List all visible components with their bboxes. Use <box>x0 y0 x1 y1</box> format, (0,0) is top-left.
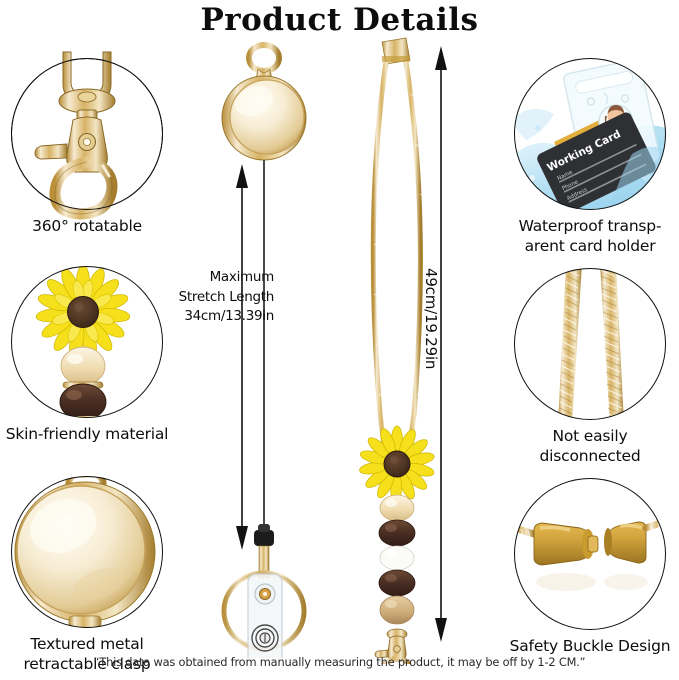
arrow-head-up <box>236 164 248 188</box>
feature-safety-buckle-design: Safety Buckle Design <box>505 478 675 657</box>
feature-image-retractable-clasp <box>11 476 163 628</box>
feature-caption: Waterproof transp- arent card holder <box>505 217 675 257</box>
arrow-head-up <box>435 46 447 70</box>
stretch-line-2: Stretch Length <box>152 288 274 308</box>
feature-caption: Safety Buckle Design <box>505 637 675 657</box>
feature-caption: Skin-friendly material <box>2 425 172 445</box>
feature-image-braided-cord <box>514 268 666 420</box>
circle-outline <box>11 266 163 418</box>
lanyard-length-label: 49cm/19.29in <box>422 268 440 408</box>
feature-360-rotatable: 360° rotatable <box>2 58 172 237</box>
retractable-badge-reel-product <box>196 38 356 658</box>
circle-outline <box>514 58 666 210</box>
arrow-head-down <box>435 618 447 642</box>
feature-waterproof-card-holder: Working Card Name Phone Address <box>505 58 675 257</box>
product-details-infographic: Product Details <box>0 0 679 680</box>
arrow-head-down <box>236 526 248 550</box>
feature-caption: 360° rotatable <box>2 217 172 237</box>
feature-image-skin-friendly <box>11 266 163 418</box>
feature-not-easily-disconnected: Not easily disconnected <box>505 268 675 467</box>
measurement-disclaimer: “This data was obtained from manually me… <box>0 655 679 669</box>
circle-outline-front <box>11 58 163 210</box>
stretch-length-annotation: Maximum Stretch Length 34cm/13.39in <box>152 268 274 327</box>
page-title: Product Details <box>0 2 679 38</box>
feature-image-card-holder: Working Card Name Phone Address <box>514 58 666 210</box>
circle-outline <box>514 478 666 630</box>
feature-skin-friendly-material: Skin-friendly material <box>2 266 172 445</box>
stretch-line-3: 34cm/13.39in <box>152 307 274 327</box>
feature-caption: Not easily disconnected <box>505 427 675 467</box>
feature-image-360-rotatable <box>11 58 163 210</box>
stretch-line-1: Maximum <box>152 268 274 288</box>
feature-image-safety-buckle <box>514 478 666 630</box>
circle-outline <box>11 476 163 628</box>
feature-textured-metal-clasp: Textured metal retractable clasp <box>2 476 172 675</box>
circle-outline <box>514 268 666 420</box>
beaded-lanyard-product <box>352 34 472 664</box>
